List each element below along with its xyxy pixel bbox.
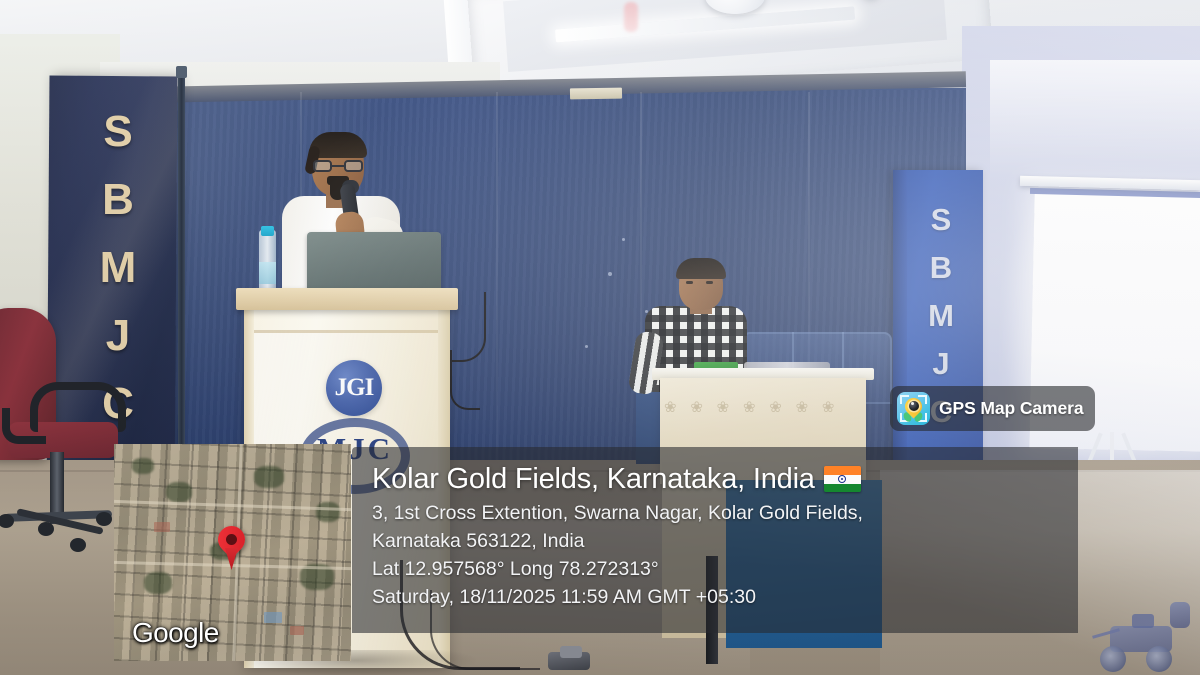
gps-location-title-row: Kolar Gold Fields, Karnataka, India bbox=[372, 463, 1078, 495]
speaker-eyeglasses-bridge bbox=[332, 165, 344, 167]
gps-map-camera-label: GPS Map Camera bbox=[939, 398, 1084, 419]
office-chair-caster bbox=[38, 522, 54, 536]
podium-lectern-top bbox=[236, 288, 458, 310]
google-watermark: Google bbox=[132, 617, 219, 649]
map-building bbox=[154, 522, 170, 532]
map-road bbox=[114, 500, 351, 511]
jgi-logo: JGI bbox=[326, 360, 382, 416]
speaker-eyeglasses-lens bbox=[313, 160, 332, 172]
backdrop-fold bbox=[496, 92, 498, 464]
banner-left-letter: J bbox=[90, 302, 146, 370]
robot-wheel bbox=[1146, 646, 1172, 672]
robot-wheel bbox=[1100, 646, 1126, 672]
map-building bbox=[290, 626, 304, 635]
backdrop-clip bbox=[570, 88, 622, 100]
screenshot-root: S B M J C S B M J C bbox=[0, 0, 1200, 675]
wall-right-highlight bbox=[990, 60, 1200, 180]
water-bottle-cap bbox=[261, 226, 274, 236]
map-vegetation bbox=[254, 466, 284, 488]
seated-person-eye bbox=[706, 281, 713, 284]
seated-person-eye bbox=[686, 281, 693, 284]
map-pin-hole bbox=[224, 532, 240, 548]
backdrop-speck bbox=[585, 345, 588, 348]
flag-stripe-saffron bbox=[824, 466, 861, 475]
tablecloth-pattern: ❀ ❀ ❀ ❀ ❀ ❀ ❀ bbox=[664, 398, 862, 428]
seated-person-hair bbox=[676, 258, 726, 279]
office-chair-caster bbox=[96, 512, 112, 526]
speaker-eyeglasses-lens bbox=[344, 160, 363, 172]
gps-address-line-2: Karnataka 563122, India bbox=[372, 528, 1078, 556]
cable bbox=[450, 350, 480, 410]
banner-right-letter: J bbox=[920, 340, 962, 388]
gps-coordinates: Lat 12.957568° Long 78.272313° bbox=[372, 556, 1078, 584]
jgi-logo-text: JGI bbox=[335, 374, 374, 402]
map-building bbox=[264, 612, 282, 623]
map-vegetation bbox=[144, 572, 172, 594]
office-chair-caster bbox=[70, 538, 86, 552]
banner-left-letter: M bbox=[90, 234, 146, 302]
gps-map-camera-badge[interactable]: GPS Map Camera bbox=[890, 386, 1095, 431]
water-bottle-label bbox=[259, 262, 276, 284]
gps-info-overlay: Kolar Gold Fields, Karnataka, India 3, 1… bbox=[352, 447, 1078, 633]
gps-location-title: Kolar Gold Fields, Karnataka, India bbox=[372, 463, 815, 495]
map-vegetation bbox=[166, 482, 192, 502]
robot-vehicle bbox=[1092, 612, 1190, 674]
office-chair-armrest bbox=[2, 408, 46, 444]
gps-map-camera-icon bbox=[897, 392, 930, 425]
backdrop-speck bbox=[608, 272, 612, 276]
gps-timestamp: Saturday, 18/11/2025 11:59 AM GMT +05:30 bbox=[372, 584, 1078, 612]
gps-address-line-1: 3, 1st Cross Extention, Swarna Nagar, Ko… bbox=[372, 500, 1078, 528]
map-thumbnail[interactable]: Google bbox=[114, 444, 351, 661]
map-vegetation bbox=[132, 458, 154, 474]
map-vegetation bbox=[316, 502, 340, 522]
banner-right-letter: M bbox=[920, 292, 962, 340]
backdrop-speck bbox=[622, 238, 625, 241]
ceiling-fixture bbox=[624, 2, 638, 32]
banner-right-letter: S bbox=[920, 196, 962, 244]
banner-pole-cap bbox=[176, 66, 187, 78]
banner-left-letter: B bbox=[90, 166, 146, 234]
robot-module bbox=[1132, 614, 1154, 628]
robot-head bbox=[1170, 602, 1190, 628]
laptop-screen bbox=[307, 232, 441, 294]
gps-detail-lines: 3, 1st Cross Extention, Swarna Nagar, Ko… bbox=[372, 500, 1078, 611]
india-flag-icon bbox=[824, 466, 861, 492]
device-on-floor bbox=[560, 646, 582, 658]
lens-glint-icon bbox=[911, 402, 914, 405]
banner-right-letter: B bbox=[920, 244, 962, 292]
banner-left-letter: S bbox=[90, 98, 146, 166]
flag-stripe-green bbox=[824, 484, 861, 493]
